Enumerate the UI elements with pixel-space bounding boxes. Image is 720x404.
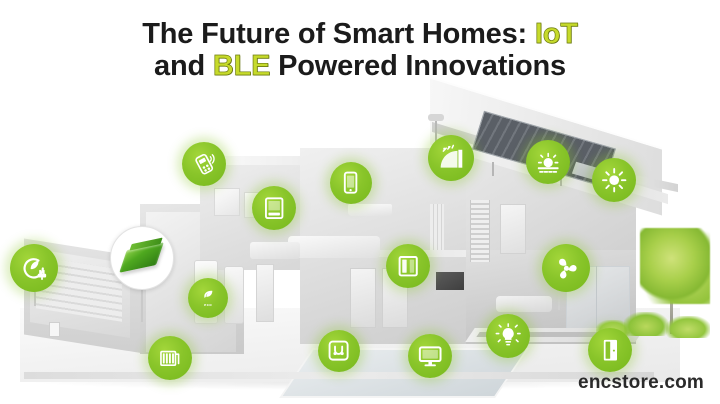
leaf-eco-icon: eco [188, 278, 228, 318]
living-room-sofa [496, 296, 552, 312]
site-watermark: encstore.com [578, 372, 704, 394]
light-bulb-icon [486, 314, 530, 358]
bedroom-bed-secondary [250, 242, 300, 259]
title-highlight-iot: IoT [535, 18, 578, 50]
cabinet-c [256, 264, 274, 322]
badge-daylight-sensor[interactable] [592, 158, 636, 202]
title-line-1: The Future of Smart Homes: IoT [0, 18, 720, 50]
tree-foliage [640, 228, 710, 304]
title-line-2-suffix: Powered Innovations [270, 50, 566, 82]
badge-stem-energy-saving-plug [34, 292, 36, 306]
badge-smart-radiator[interactable] [148, 336, 192, 380]
window-blinds-icon [386, 244, 430, 288]
sunrise-solar-icon [526, 140, 570, 184]
page-title: The Future of Smart Homes: IoT and BLE P… [0, 18, 720, 83]
ground-front-edge [24, 372, 654, 379]
monitor-tv-icon [408, 334, 452, 378]
title-line-2-prefix: and [154, 50, 213, 82]
towel-ladder-radiator [470, 200, 490, 262]
badge-smart-power-socket[interactable] [318, 330, 360, 372]
bush-right [666, 316, 710, 338]
power-socket-icon [318, 330, 360, 372]
weather-station-sensor [428, 114, 444, 121]
badge-energy-saving-plug[interactable] [10, 244, 58, 292]
badge-solar-sunrise-energy[interactable] [526, 140, 570, 184]
badge-ble-module-board[interactable] [110, 226, 174, 290]
ble-pcb-module-icon [111, 227, 173, 289]
badge-satellite-antenna[interactable] [428, 135, 474, 181]
bedroom-bed [288, 236, 380, 258]
interior-door-left [350, 268, 376, 328]
leaf-plug-icon [10, 244, 58, 292]
tablet-panel-icon [252, 186, 296, 230]
fan-ventilation-icon [542, 244, 590, 292]
badge-key-fob-remote[interactable] [182, 142, 226, 186]
badge-smart-blinds-window[interactable] [386, 244, 430, 288]
interior-door-upper [500, 204, 526, 254]
remote-key-fob-icon [182, 142, 226, 186]
badge-ventilation-fan[interactable] [542, 244, 590, 292]
solar-panel-support-left [492, 162, 494, 176]
ble-module-board-graphic [120, 243, 165, 274]
badge-smart-television[interactable] [408, 334, 452, 378]
sun-icon [592, 158, 636, 202]
infographic-canvas: The Future of Smart Homes: IoT and BLE P… [0, 0, 720, 404]
air-conditioner-unit [348, 204, 392, 216]
badge-smart-door-lock[interactable] [588, 328, 632, 372]
badge-smart-display-panel[interactable] [252, 186, 296, 230]
smartphone-icon [330, 162, 372, 204]
title-line-2: and BLE Powered Innovations [0, 50, 720, 82]
badge-smart-lighting[interactable] [486, 314, 530, 358]
garage-control-panel [49, 322, 60, 337]
door-icon [588, 328, 632, 372]
wall-mounted-tv [436, 272, 464, 290]
badge-stem-ble-module-board [141, 288, 143, 322]
patio-glass-door-divider [596, 266, 597, 328]
upper-window-left [214, 188, 240, 216]
wall-radiator [430, 204, 444, 250]
badge-eco-mode[interactable]: eco [188, 278, 228, 318]
badge-smartphone-control[interactable] [330, 162, 372, 204]
title-line-1-text: The Future of Smart Homes: [142, 18, 535, 50]
satellite-dish-icon [428, 135, 474, 181]
radiator-icon [148, 336, 192, 380]
title-highlight-ble: BLE [213, 50, 270, 82]
